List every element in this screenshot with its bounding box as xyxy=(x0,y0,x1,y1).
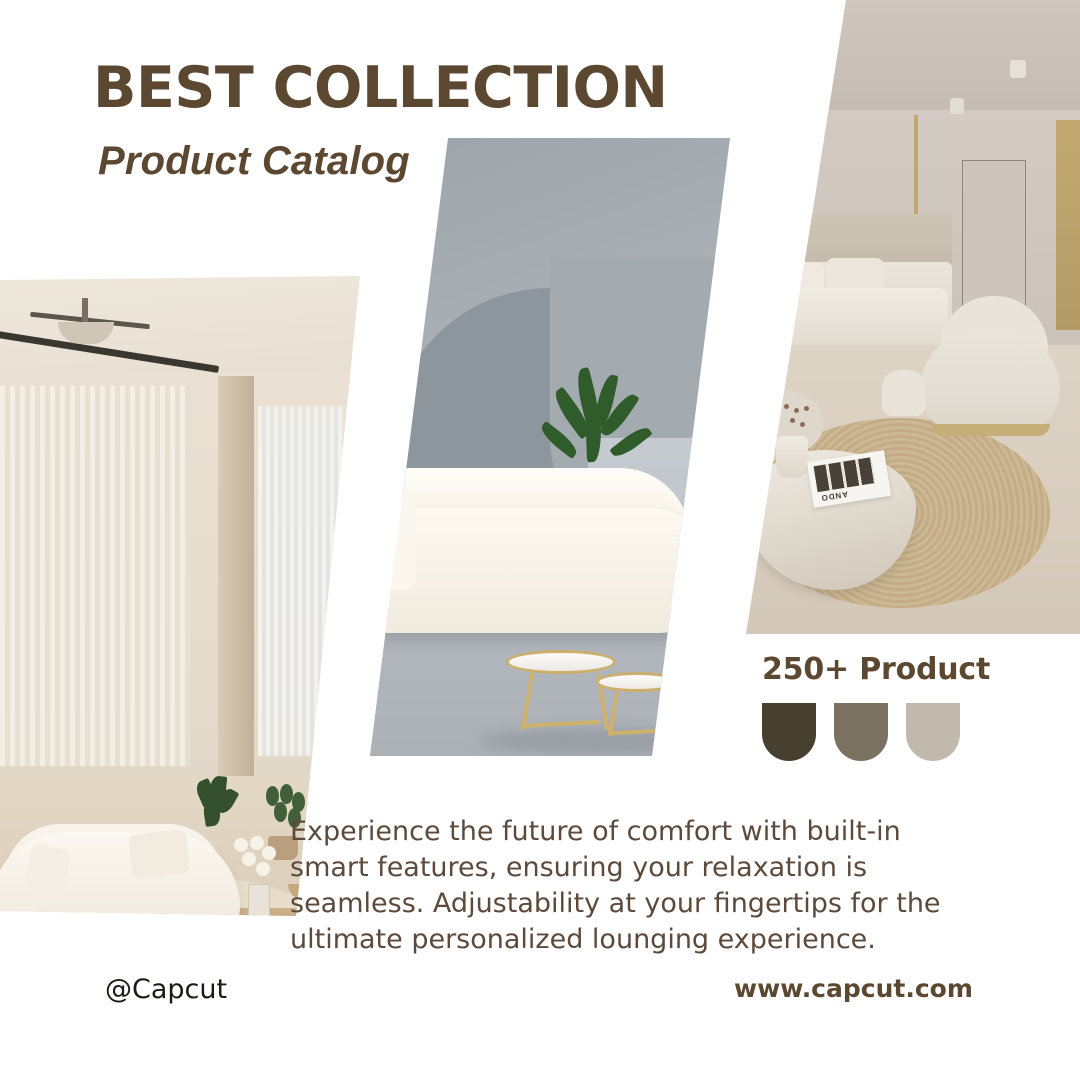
pouf xyxy=(324,590,378,632)
product-count-block: 250+ Product xyxy=(762,652,990,761)
right-room-image: ANDO xyxy=(700,0,1080,634)
coffee-table-large-top xyxy=(506,650,616,674)
lounge-chair-base xyxy=(932,424,1050,436)
color-swatch-dark-olive[interactable] xyxy=(762,703,816,761)
page-subtitle: Product Catalog xyxy=(98,138,410,184)
product-count-label: 250+ Product xyxy=(762,652,990,687)
sofa-arm xyxy=(350,490,416,590)
window-curtain xyxy=(258,406,344,756)
book-title: ANDO xyxy=(820,489,849,502)
sheer-curtain xyxy=(0,386,190,766)
spotlight-icon xyxy=(1010,60,1026,78)
social-handle[interactable]: @Capcut xyxy=(105,974,227,1005)
dried-stems xyxy=(782,404,812,440)
duvet xyxy=(758,288,948,346)
book-cover-art xyxy=(814,457,875,492)
ceramic-vase xyxy=(776,436,808,478)
website-url[interactable]: www.capcut.com xyxy=(734,974,973,1003)
pendant-cord xyxy=(82,298,88,324)
description-paragraph: Experience the future of comfort with bu… xyxy=(290,814,970,958)
cushion xyxy=(128,829,190,879)
page-title: BEST COLLECTION xyxy=(93,58,668,118)
color-swatch-light-greige[interactable] xyxy=(906,703,960,761)
lily-bouquet xyxy=(232,836,282,890)
poster-canvas: ANDO BEST COLLECTION Product Catalog 250… xyxy=(0,0,1080,1080)
color-swatch-row xyxy=(762,703,990,761)
wall-art xyxy=(1056,120,1080,330)
concrete-column xyxy=(218,376,254,776)
gallery-panel-center[interactable] xyxy=(300,138,800,756)
monstera-plant xyxy=(196,776,236,836)
pillow xyxy=(826,258,884,290)
gallery-panel-right[interactable]: ANDO xyxy=(700,0,1080,634)
center-room-image xyxy=(300,138,800,756)
glass-vase xyxy=(248,884,270,916)
floor-shadow xyxy=(480,728,710,754)
side-stool xyxy=(882,370,926,416)
lounge-chair xyxy=(920,330,1060,434)
spotlight-icon xyxy=(950,98,964,114)
color-swatch-warm-taupe[interactable] xyxy=(834,703,888,761)
coffee-table-small-top xyxy=(596,672,678,692)
